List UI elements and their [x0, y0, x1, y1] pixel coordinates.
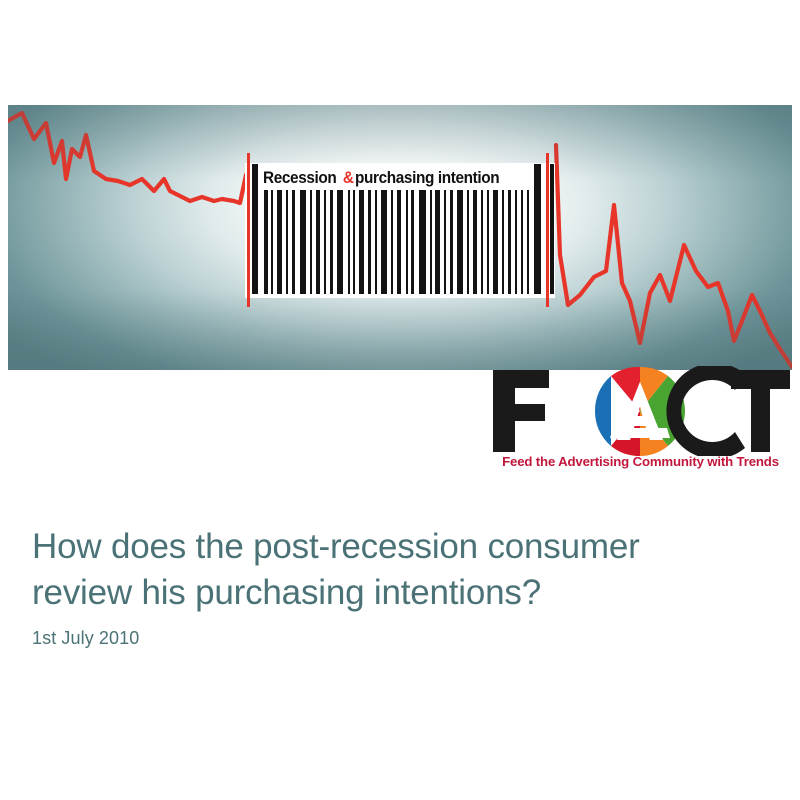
slide-canvas: Recession & purchasing intention	[0, 0, 800, 800]
fact-logo-tagline: Feed the Advertising Community with Tren…	[489, 454, 792, 469]
fact-logo-marks	[487, 366, 792, 456]
presentation-date: 1st July 2010	[32, 628, 139, 649]
fact-logo: Feed the Advertising Community with Tren…	[487, 366, 792, 478]
barcode-graphic: Recession & purchasing intention	[245, 163, 555, 298]
page-title-line-2: review his purchasing intentions?	[32, 570, 762, 616]
page-title: How does the post-recession consumer rev…	[32, 524, 762, 616]
logo-letter-t	[731, 370, 790, 452]
barcode-bars	[245, 163, 555, 298]
page-title-line-1: How does the post-recession consumer	[32, 524, 762, 570]
logo-letter-f	[493, 370, 549, 452]
